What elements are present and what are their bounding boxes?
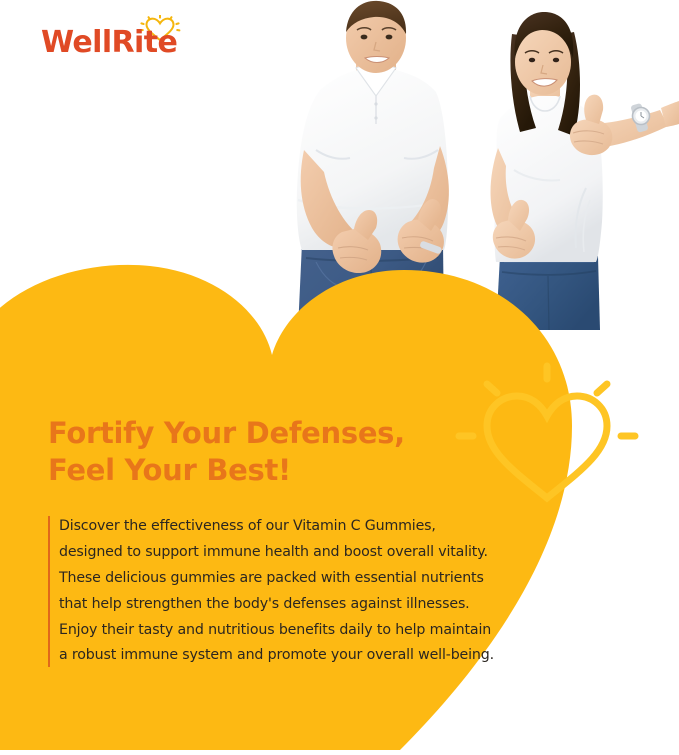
brand-logo[interactable]: WellRite [41, 18, 211, 64]
promotional-banner: WellRite Fortify Your Defenses, Feel You… [0, 0, 679, 750]
brand-name: WellRite [41, 28, 177, 58]
page-headline: Fortify Your Defenses, Feel Your Best! [48, 415, 638, 489]
description-text: Discover the effectiveness of our Vitami… [59, 514, 638, 669]
description-wrapper: Discover the effectiveness of our Vitami… [48, 514, 638, 669]
accent-rule [48, 516, 50, 667]
copy-block: Fortify Your Defenses, Feel Your Best! D… [48, 415, 638, 669]
